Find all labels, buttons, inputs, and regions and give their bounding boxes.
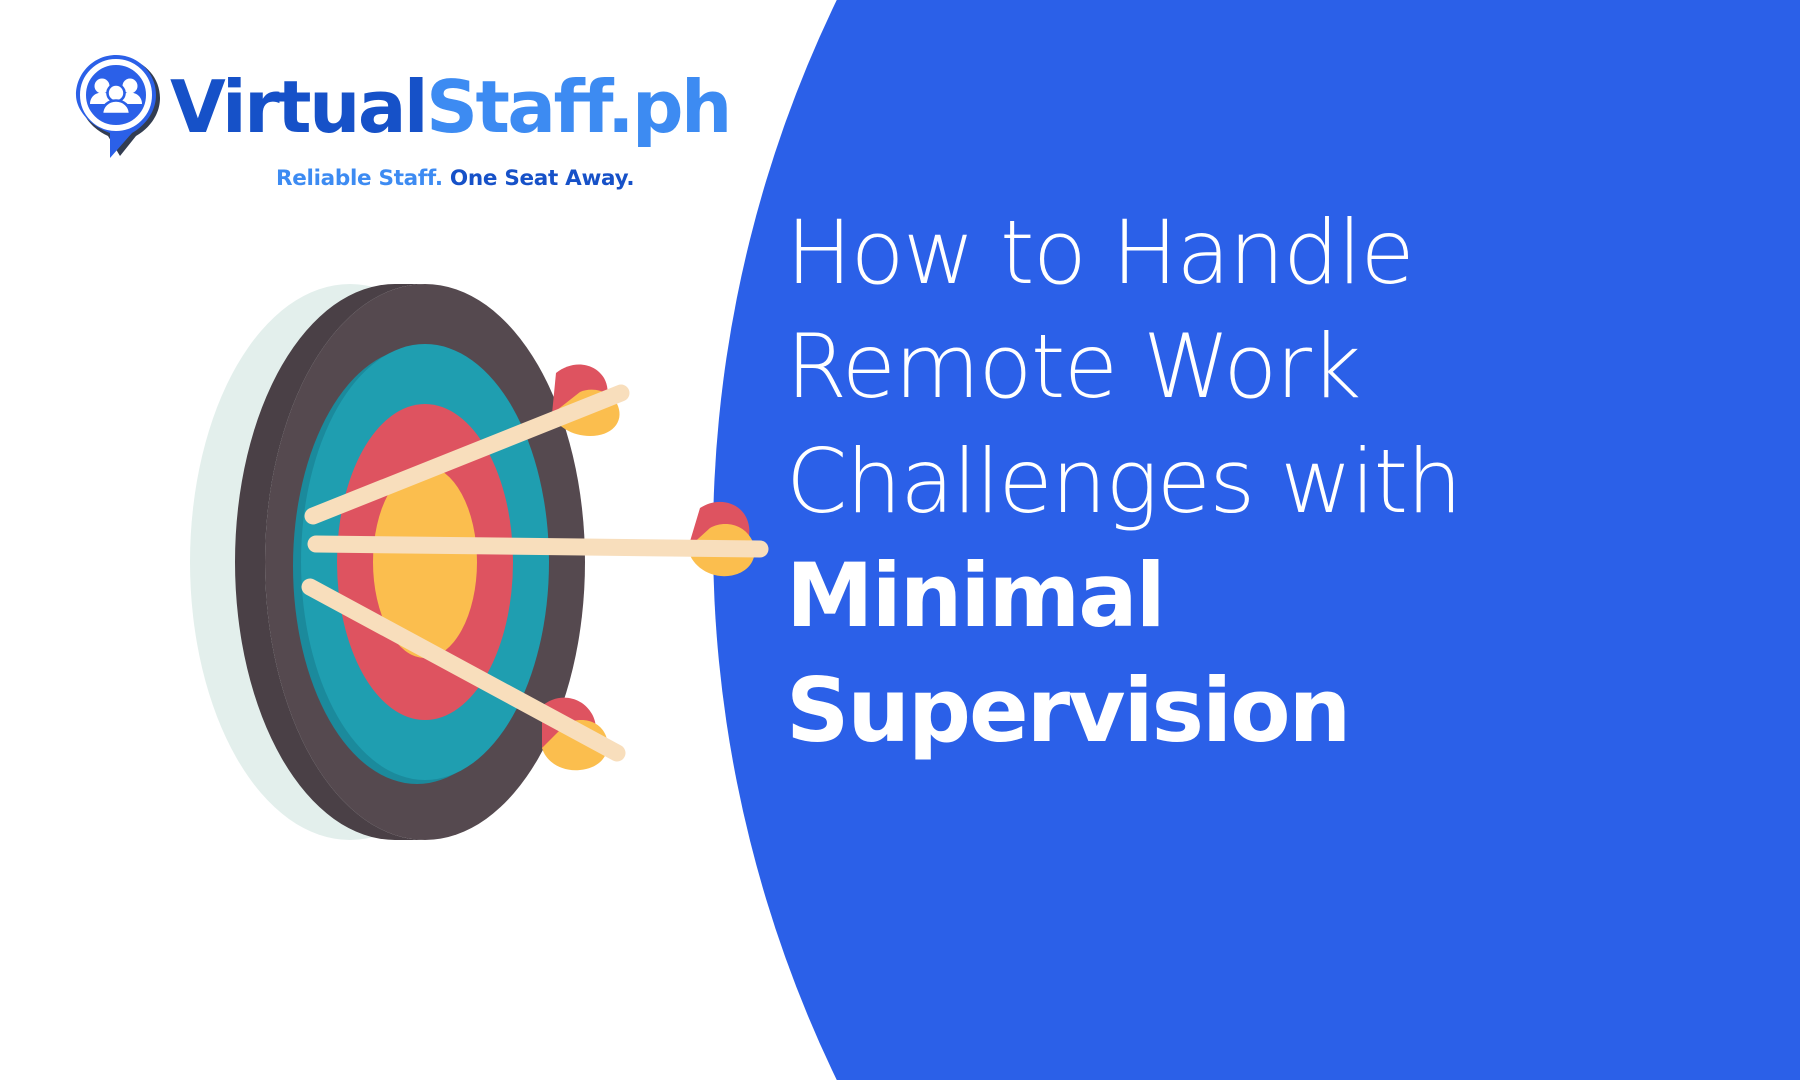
- arrows-group: [280, 340, 800, 810]
- banner-canvas: VirtualStaff.ph Reliable Staff. One Seat…: [0, 0, 1800, 1080]
- logo-wordmark: VirtualStaff.ph: [170, 71, 730, 143]
- arrow-upper: [313, 364, 621, 516]
- tagline-part-two: One Seat Away.: [443, 166, 635, 191]
- headline-line-5: Supervision: [786, 654, 1766, 768]
- headline-line-3: Challenges with: [786, 425, 1766, 539]
- headline-block: How to Handle Remote Work Challenges wit…: [786, 196, 1766, 768]
- tagline-part-one: Reliable Staff.: [276, 166, 443, 191]
- brand-logo[interactable]: VirtualStaff.ph Reliable Staff. One Seat…: [70, 52, 630, 191]
- headline-line-1: How to Handle: [786, 196, 1766, 310]
- headline-line-4: Minimal: [786, 539, 1766, 653]
- logo-word-virtual: Virtual: [170, 65, 426, 149]
- arrow-middle: [316, 502, 760, 576]
- logo-tagline: Reliable Staff. One Seat Away.: [276, 166, 630, 191]
- arrow-lower: [310, 587, 617, 770]
- headline-line-2: Remote Work: [786, 310, 1766, 424]
- logo-row: VirtualStaff.ph: [70, 52, 630, 160]
- location-pin-group-icon: [70, 52, 162, 160]
- logo-word-staffph: Staff.ph: [426, 65, 730, 149]
